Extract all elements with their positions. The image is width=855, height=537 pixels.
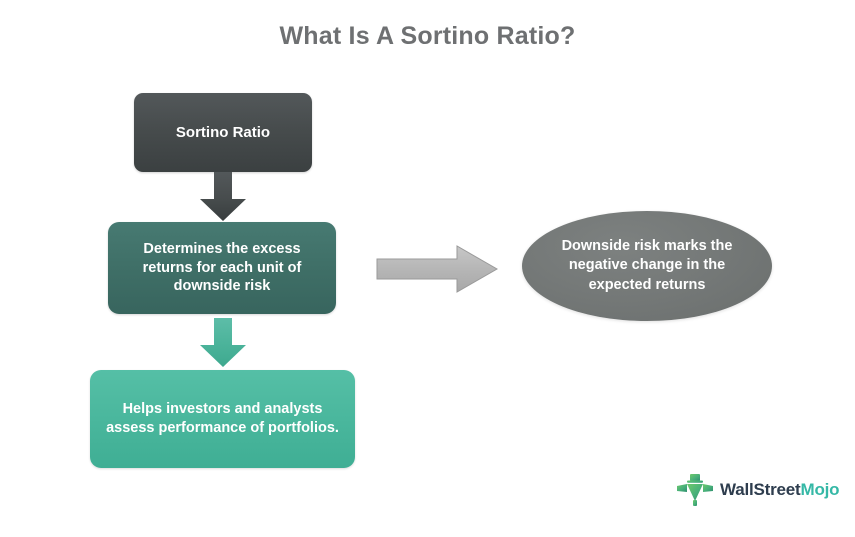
node-downside-risk-label: Downside risk marks the negative change …: [550, 237, 744, 294]
wallstreetmojo-figure-icon: [676, 471, 714, 509]
node-determines-excess-returns: Determines the excess returns for each u…: [108, 222, 336, 314]
brand-word-wallstreet: WallStreet: [720, 480, 801, 499]
node-helps-investors: Helps investors and analysts assess perf…: [90, 370, 355, 468]
node-determines-excess-returns-label: Determines the excess returns for each u…: [120, 240, 324, 296]
node-sortino-ratio-label: Sortino Ratio: [176, 123, 270, 142]
node-downside-risk: Downside risk marks the negative change …: [522, 211, 772, 321]
brand-logo-text: WallStreetMojo: [720, 480, 839, 500]
node-sortino-ratio: Sortino Ratio: [134, 93, 312, 172]
brand-word-mojo: Mojo: [801, 480, 840, 499]
page-title: What Is A Sortino Ratio?: [0, 22, 855, 51]
node-helps-investors-label: Helps investors and analysts assess perf…: [102, 400, 343, 437]
arrow-right-icon: [375, 244, 499, 294]
arrow-down-icon: [196, 172, 250, 222]
arrow-down-icon: [196, 318, 250, 368]
diagram-canvas: What Is A Sortino Ratio? Sortino Ratio D…: [0, 0, 855, 537]
brand-logo: WallStreetMojo: [676, 470, 841, 510]
